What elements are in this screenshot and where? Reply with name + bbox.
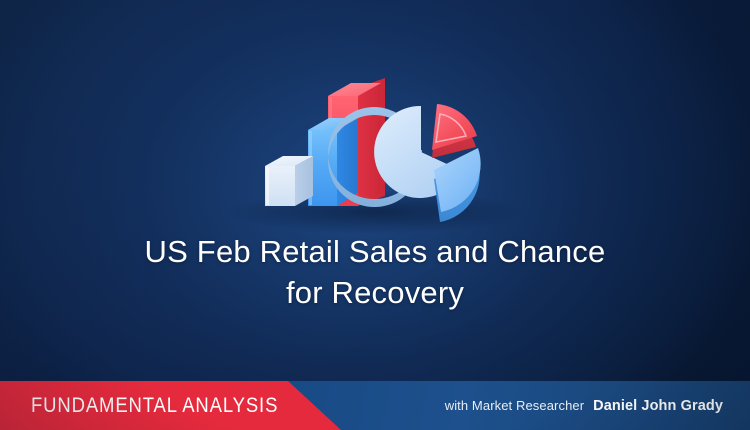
bar-small-white bbox=[265, 156, 313, 206]
title-line-1: US Feb Retail Sales and Chance bbox=[145, 234, 606, 269]
category-label: FUNDAMENTAL ANALYSIS bbox=[31, 394, 278, 418]
hero-illustration bbox=[0, 0, 750, 240]
byline-prefix: with Market Researcher bbox=[445, 398, 584, 413]
byline: with Market Researcher Daniel John Grady bbox=[445, 398, 723, 414]
banner-title: US Feb Retail Sales and Chance for Recov… bbox=[0, 232, 750, 314]
article-banner: US Feb Retail Sales and Chance for Recov… bbox=[0, 0, 750, 430]
title-line-2: for Recovery bbox=[60, 273, 690, 314]
banner-footer: FUNDAMENTAL ANALYSIS with Market Researc… bbox=[0, 381, 750, 430]
slice-red-detached bbox=[432, 104, 477, 158]
author-name: Daniel John Grady bbox=[593, 398, 723, 414]
